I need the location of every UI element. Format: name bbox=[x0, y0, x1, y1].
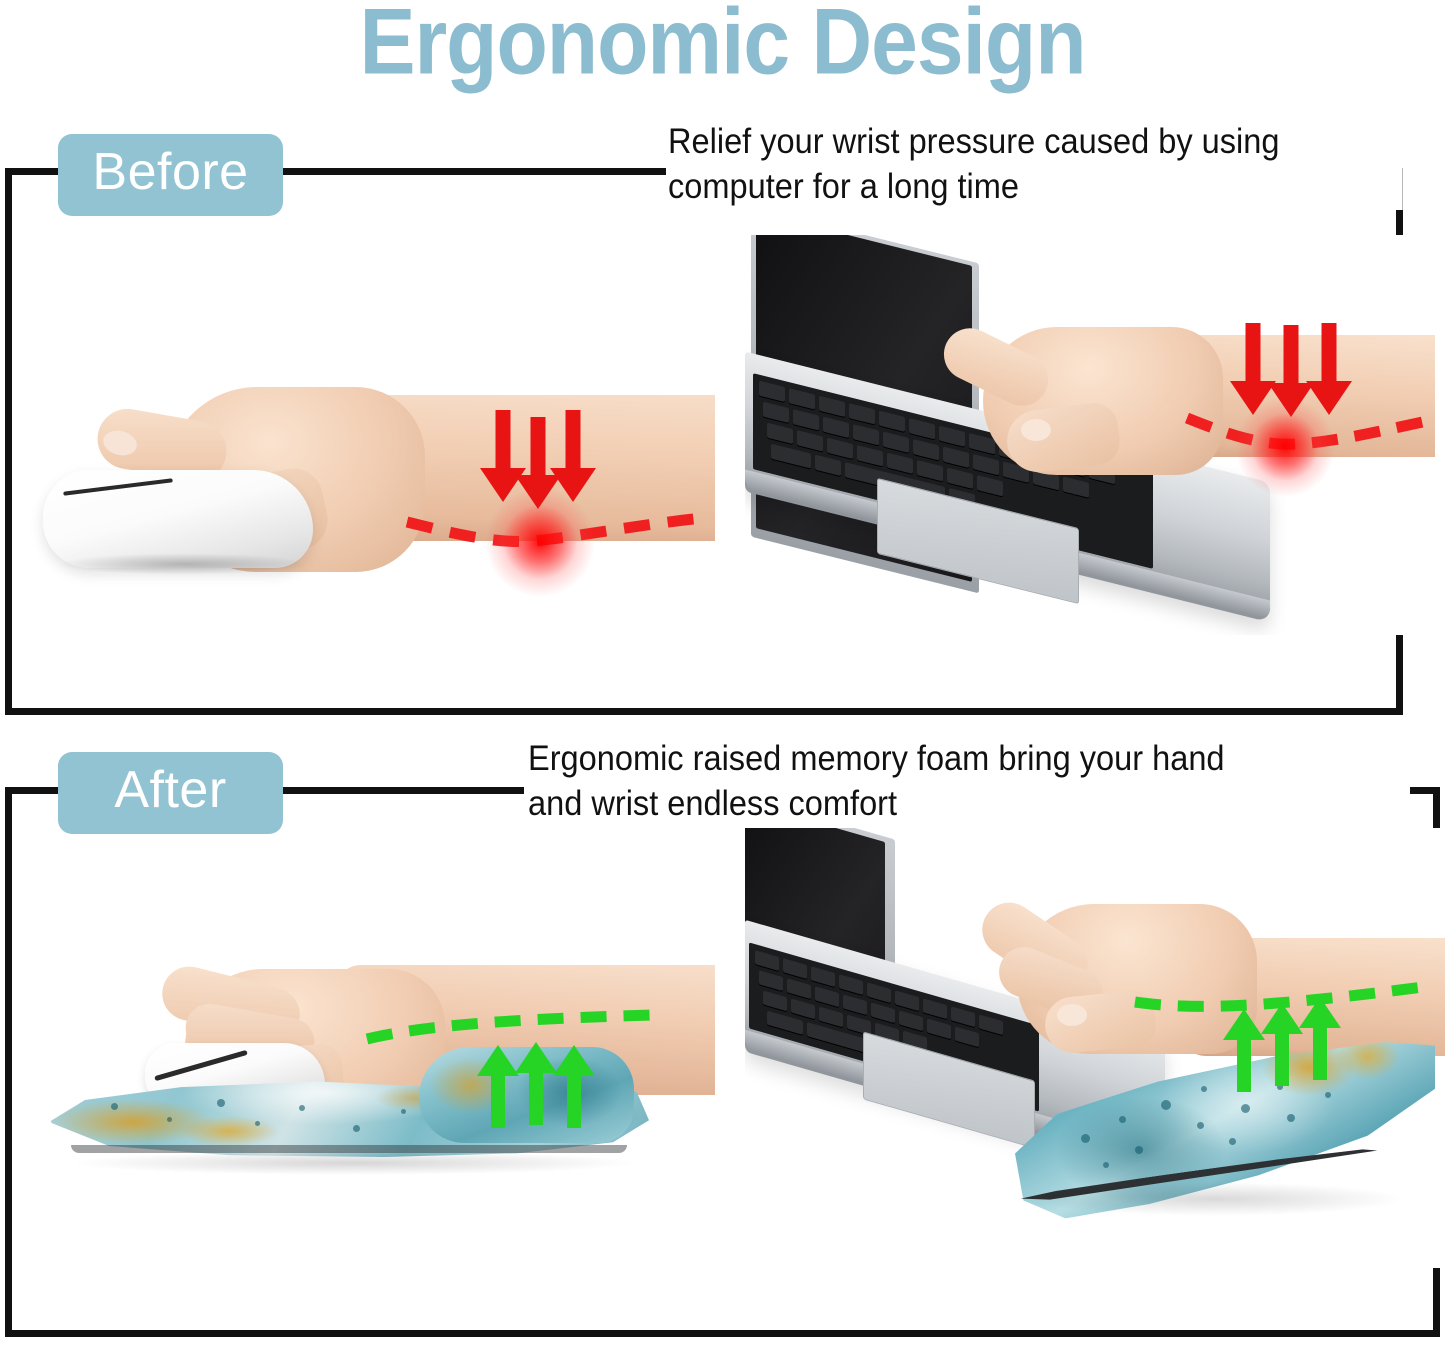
support-arrow-3 bbox=[1299, 994, 1341, 1080]
mouse-contact-shadow bbox=[59, 553, 309, 575]
before-caption: Relief your wrist pressure caused by usi… bbox=[668, 120, 1403, 210]
before-frame-bottom bbox=[5, 708, 1403, 715]
after-badge-label: After bbox=[114, 764, 226, 816]
pad-contact-shadow bbox=[69, 1151, 639, 1175]
after-frame-top-left bbox=[5, 787, 61, 794]
before-frame-left bbox=[5, 168, 12, 715]
support-arrow-2 bbox=[1261, 1000, 1303, 1086]
before-caption-line-1: Relief your wrist pressure caused by usi… bbox=[668, 120, 1403, 165]
pressure-arrow-3 bbox=[1306, 323, 1352, 415]
photo-hand-on-laptop-without-pad bbox=[745, 235, 1435, 635]
after-badge: After bbox=[58, 752, 283, 834]
photo-hand-on-mouse-with-pad bbox=[35, 955, 715, 1215]
after-caption: Ergonomic raised memory foam bring your … bbox=[528, 737, 1346, 827]
fingernail bbox=[1021, 419, 1051, 441]
pad-contact-shadow bbox=[1025, 1182, 1405, 1216]
support-arrow-3 bbox=[553, 1040, 595, 1128]
after-frame-left bbox=[5, 787, 12, 1337]
photo-hand-on-laptop-with-pad bbox=[745, 828, 1445, 1268]
after-caption-line-2: and wrist endless comfort bbox=[528, 782, 1346, 827]
support-arrow-2 bbox=[515, 1037, 557, 1125]
before-frame-top-mid bbox=[281, 168, 666, 175]
after-caption-line-1: Ergonomic raised memory foam bring your … bbox=[528, 737, 1346, 782]
support-arrow-1 bbox=[1223, 1006, 1265, 1092]
before-badge-label: Before bbox=[92, 146, 248, 198]
before-caption-line-2: computer for a long time bbox=[668, 165, 1403, 210]
after-frame-top-mid bbox=[281, 787, 524, 794]
photo-hand-on-mouse-without-pad bbox=[25, 355, 715, 610]
fingernail bbox=[1057, 1004, 1087, 1026]
support-arrow-1 bbox=[477, 1040, 519, 1128]
before-frame-top-left bbox=[5, 168, 61, 175]
pressure-arrow-3 bbox=[550, 410, 596, 502]
before-badge: Before bbox=[58, 134, 283, 216]
after-frame-bottom bbox=[5, 1330, 1440, 1337]
page-title: Ergonomic Design bbox=[0, 0, 1445, 88]
